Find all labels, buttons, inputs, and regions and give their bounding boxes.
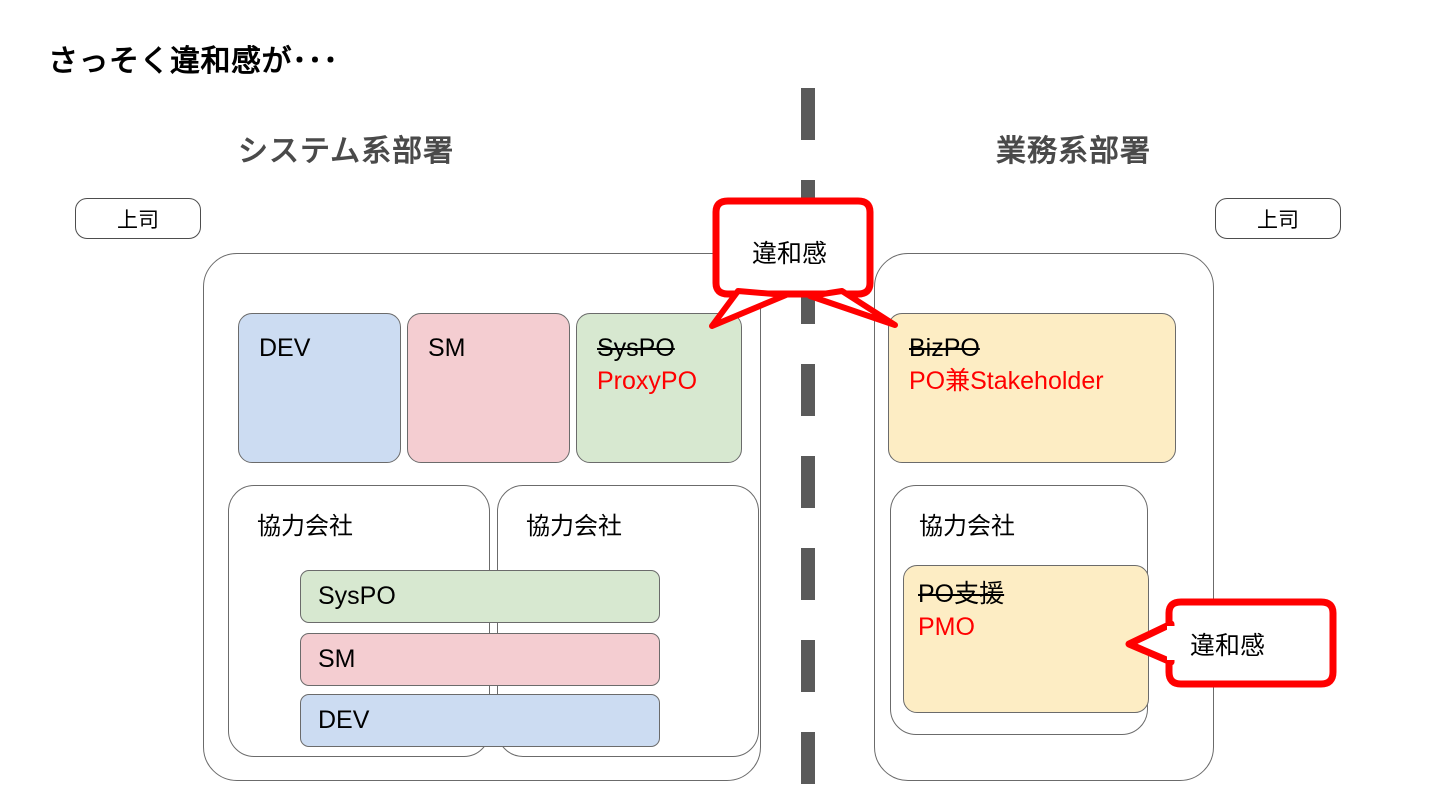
boss-pill-left-label: 上司 [117,204,159,234]
callout-bubble-bottom-label: 違和感 [1190,626,1265,662]
callout-bubble-top-tail-right [810,291,895,325]
role-card-pmo-struck-label: PO支援 [918,578,1148,611]
divider-dash [801,640,815,692]
column-header-system: システム系部署 [238,126,454,170]
divider-dash [801,456,815,508]
role-card-bizpo-stakeholder[interactable]: BizPO PO兼Stakeholder [888,313,1176,463]
role-card-bizpo-struck-label: BizPO [909,332,1175,365]
role-card-stakeholder-label: PO兼Stakeholder [909,365,1175,398]
role-card-syspo-struck-label: SysPO [597,332,741,365]
role-card-syspo-proxypo[interactable]: SysPO ProxyPO [576,313,742,463]
divider-dash [801,88,815,140]
boss-pill-right[interactable]: 上司 [1215,198,1341,239]
partner-company-box-3-label: 協力会社 [919,506,1015,541]
role-bar-sm-label: SM [318,645,356,674]
boss-pill-left[interactable]: 上司 [75,198,201,239]
role-card-pmo[interactable]: PO支援 PMO [903,565,1149,713]
slide-canvas: さっそく違和感が･･･ システム系部署 業務系部署 上司 上司 DEV SM S… [0,0,1440,810]
callout-bubble-bottom-tail-join [1167,626,1175,660]
role-card-sm[interactable]: SM [407,313,570,463]
page-title: さっそく違和感が･･･ [48,36,339,80]
callout-bubble-top-label: 違和感 [752,234,827,270]
boss-pill-right-label: 上司 [1257,204,1299,234]
column-header-business: 業務系部署 [996,126,1151,170]
role-card-proxypo-label: ProxyPO [597,365,741,398]
callout-bubble-bottom-tail [1129,624,1171,662]
role-card-dev-label: DEV [259,332,400,365]
role-bar-dev[interactable]: DEV [300,694,660,747]
role-bar-syspo[interactable]: SysPO [300,570,660,623]
partner-company-box-1-label: 協力会社 [257,506,353,541]
role-bar-sm[interactable]: SM [300,633,660,686]
divider-dash [801,732,815,784]
role-card-sm-label: SM [428,332,569,365]
partner-company-box-2-label: 協力会社 [526,506,622,541]
role-bar-dev-label: DEV [318,706,369,735]
role-card-dev[interactable]: DEV [238,313,401,463]
role-card-pmo-label: PMO [918,611,1148,644]
divider-dash [801,364,815,416]
role-bar-syspo-label: SysPO [318,582,396,611]
divider-dash [801,548,815,600]
